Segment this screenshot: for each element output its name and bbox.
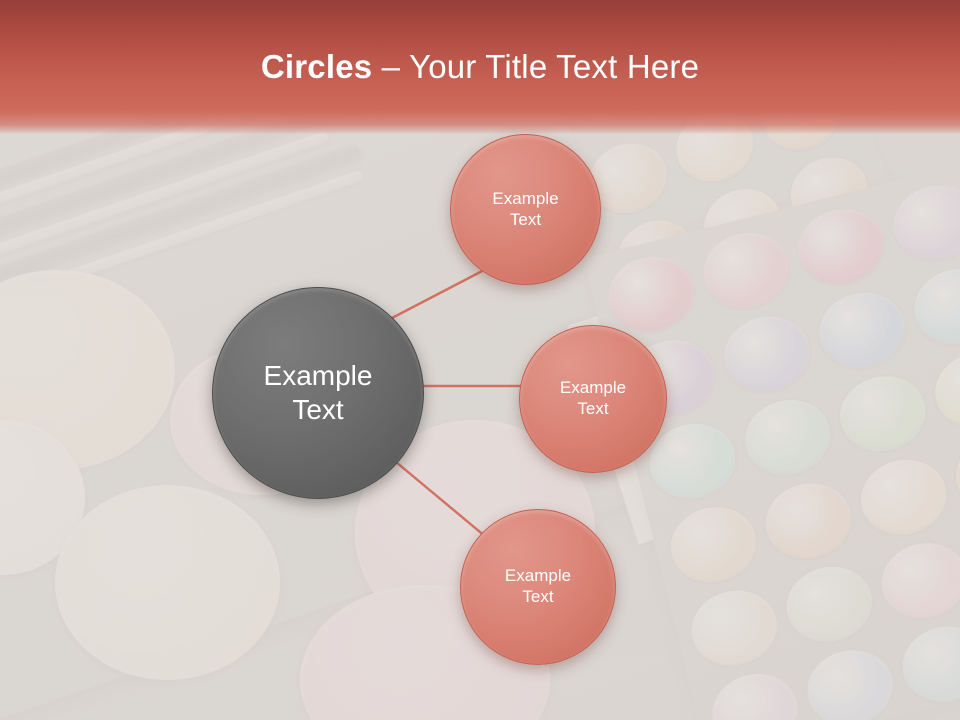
- satellite-node-bottom[interactable]: Example Text: [460, 509, 616, 665]
- satellite-node-top-label: Example Text: [461, 189, 589, 230]
- satellite-node-bottom-line2: Text: [522, 587, 553, 606]
- satellite-node-middle-line2: Text: [577, 399, 608, 418]
- slide-canvas: Circles – Your Title Text Here Example T…: [0, 0, 960, 720]
- satellite-node-top-line2: Text: [510, 210, 541, 229]
- satellite-node-bottom-line1: Example: [505, 566, 571, 585]
- center-node-label: Example Text: [228, 359, 409, 427]
- center-node[interactable]: Example Text: [212, 287, 424, 499]
- circles-diagram: Example Text Example Text Example Text E…: [0, 0, 960, 720]
- connector-center-to-bottom: [396, 462, 492, 542]
- satellite-node-middle[interactable]: Example Text: [519, 325, 667, 473]
- center-node-line2: Text: [292, 394, 343, 425]
- center-node-line1: Example: [264, 360, 373, 391]
- satellite-node-bottom-label: Example Text: [472, 566, 604, 607]
- satellite-node-middle-label: Example Text: [530, 378, 656, 419]
- connector-center-to-top: [392, 268, 488, 318]
- satellite-node-top[interactable]: Example Text: [450, 134, 601, 285]
- satellite-node-top-line1: Example: [492, 189, 558, 208]
- satellite-node-middle-line1: Example: [560, 378, 626, 397]
